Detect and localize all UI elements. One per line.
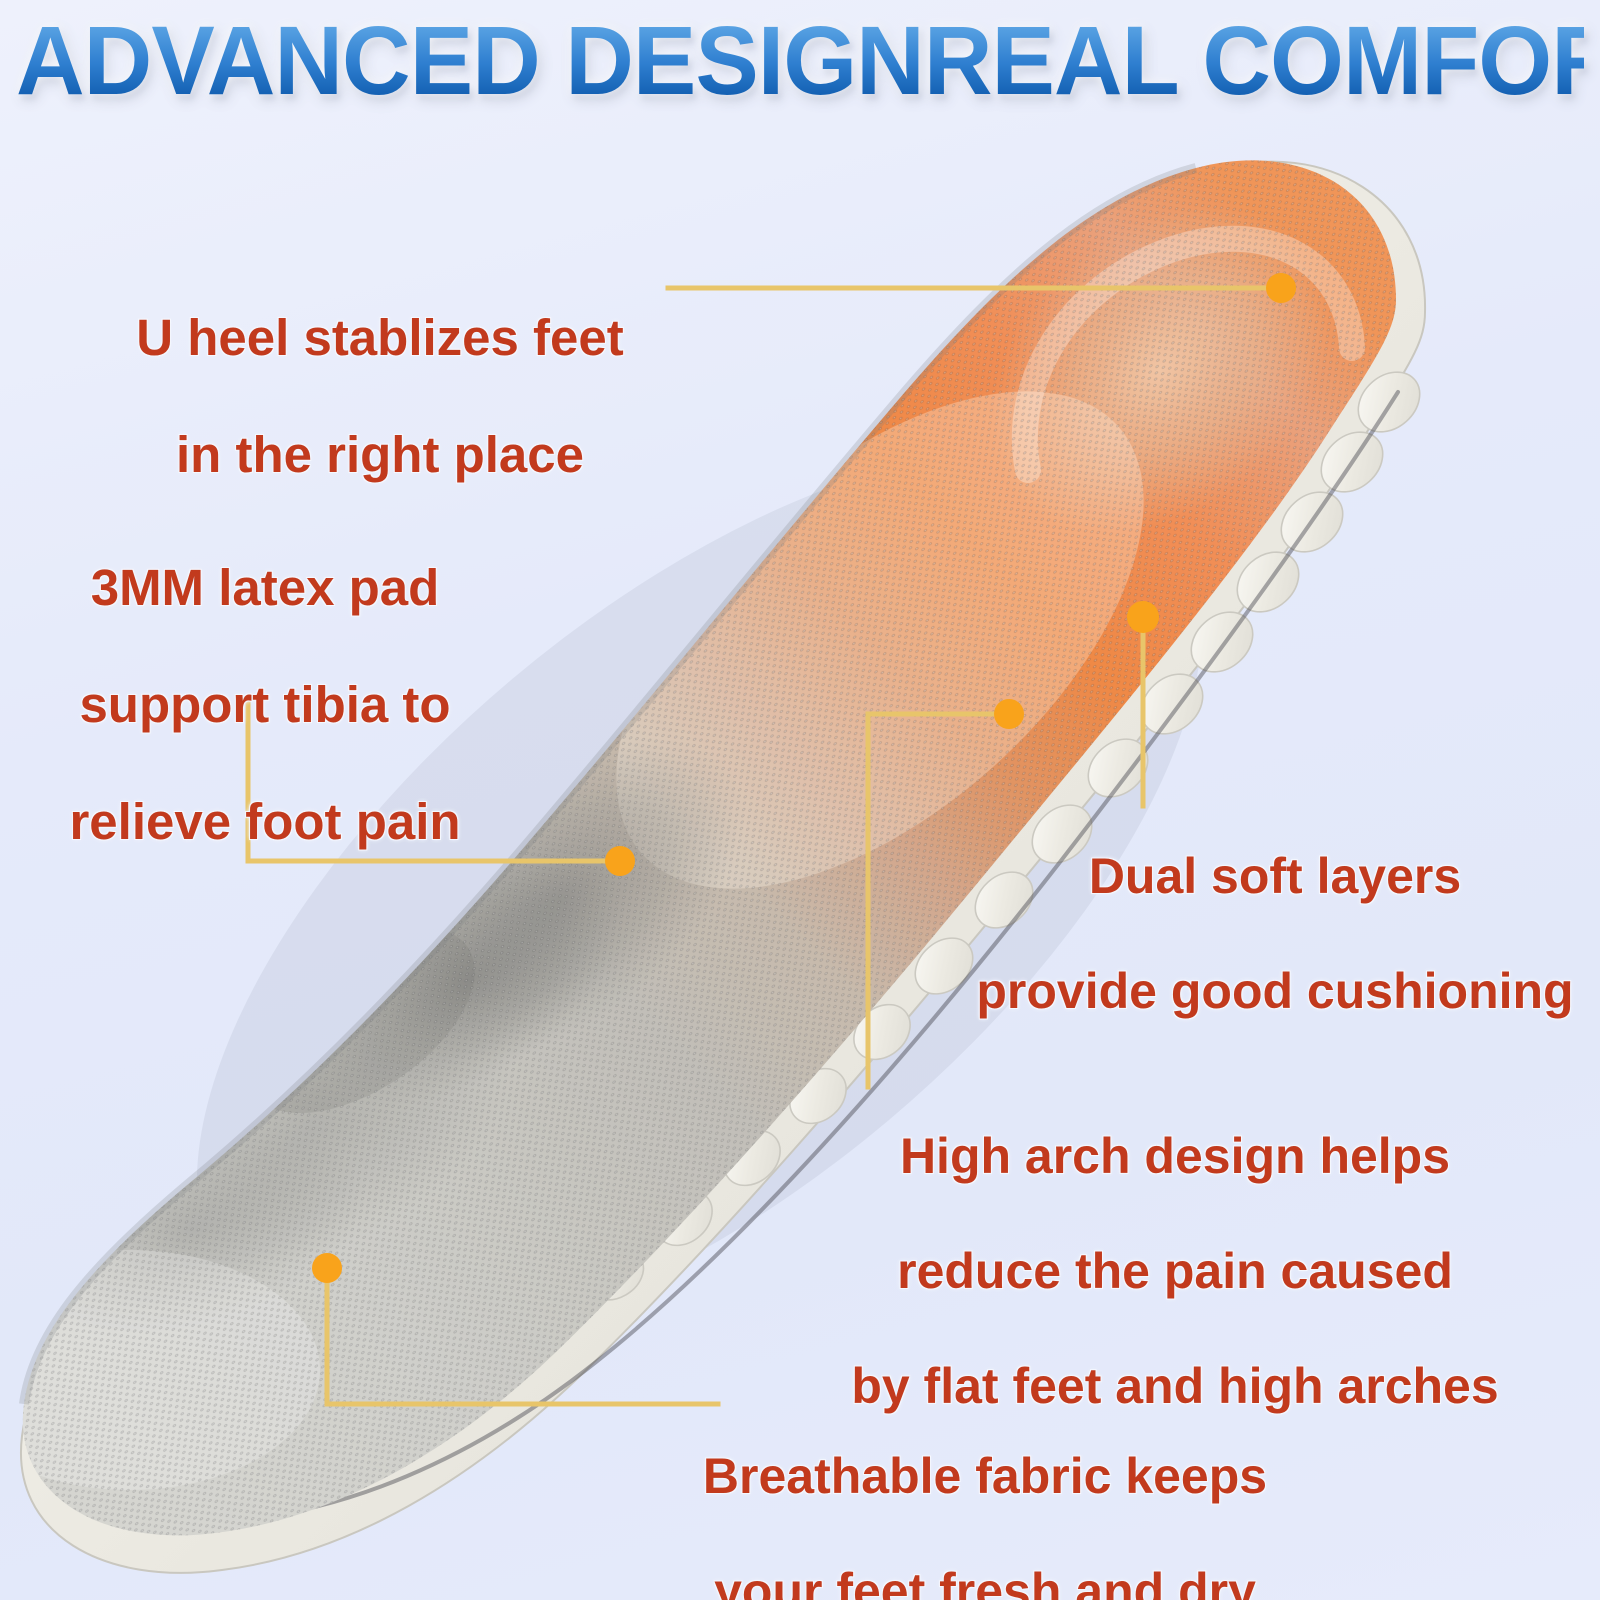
leader-dot-high-arch — [994, 699, 1024, 729]
callout-dual-layers-line-2: provide good cushioning — [960, 963, 1590, 1021]
callout-latex-pad: 3MM latex pad support tibia to relieve f… — [30, 500, 500, 910]
callout-latex-pad-line-3: relieve foot pain — [30, 793, 500, 852]
callout-breathable-line-2: your feet fresh and dry — [640, 1563, 1330, 1600]
leader-dot-u-heel — [1266, 273, 1296, 303]
infographic-canvas: ADVANCED DESIGNREAL COMFORT — [0, 0, 1600, 1600]
leader-line-breathable — [327, 1268, 718, 1404]
callout-breathable-fabric: Breathable fabric keeps your feet fresh … — [640, 1390, 1330, 1600]
callout-dual-soft-layers: Dual soft layers provide good cushioning — [960, 790, 1590, 1078]
leader-dot-latex-pad — [605, 846, 635, 876]
leader-dot-dual-layers — [1127, 601, 1159, 633]
callout-latex-pad-line-2: support tibia to — [30, 676, 500, 735]
callout-breathable-line-1: Breathable fabric keeps — [640, 1448, 1330, 1506]
callout-latex-pad-line-1: 3MM latex pad — [30, 559, 500, 618]
callout-dual-layers-line-1: Dual soft layers — [960, 848, 1590, 906]
callout-high-arch-line-1: High arch design helps — [780, 1128, 1570, 1186]
callout-high-arch-line-2: reduce the pain caused — [780, 1243, 1570, 1301]
callout-u-heel-line-2: in the right place — [70, 426, 690, 485]
leader-dot-breathable — [312, 1253, 342, 1283]
callout-u-heel-line-1: U heel stablizes feet — [70, 309, 690, 368]
